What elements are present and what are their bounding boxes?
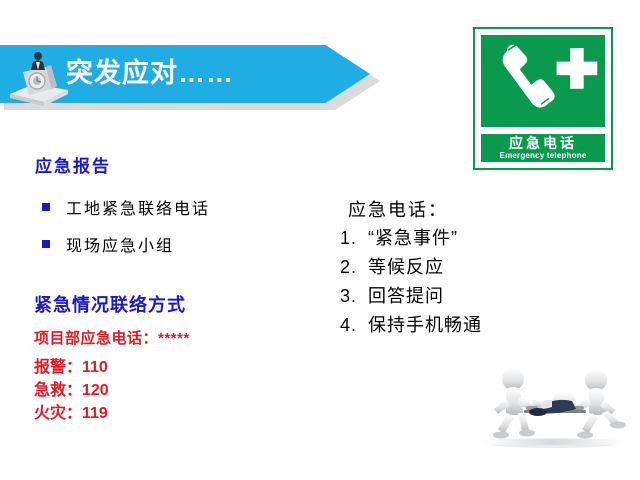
page-title: 突发应对…… — [66, 50, 234, 96]
list-item: 3.回答提问 — [340, 282, 482, 311]
list-item: 2.等候反应 — [340, 253, 482, 282]
project-department-phone: 项目部应急电话：***** — [34, 327, 190, 348]
list-item: 报警：110 — [34, 356, 109, 379]
stretcher-rescue-illustration — [468, 355, 638, 455]
sign-label-area: 应急电话 Emergency telephone — [479, 132, 607, 164]
rescuer-figure-right — [571, 369, 626, 439]
emergency-telephone-sign: 应急电话 Emergency telephone — [473, 27, 613, 170]
step-label: 保持手机畅通 — [368, 315, 482, 335]
emergency-report-heading: 应急报告 — [35, 152, 111, 177]
list-item-label: 工地紧急联络电话 — [66, 195, 210, 219]
slide-canvas: 突发应对…… 应急电话 Emergency telephone 应急报告 — [0, 0, 640, 480]
list-item: 现场应急小组 — [42, 232, 210, 256]
telephone-handset-icon — [481, 35, 605, 127]
list-item-label: 现场应急小组 — [66, 232, 174, 256]
list-item: 4.保持手机畅通 — [340, 311, 482, 340]
step-label: 回答提问 — [368, 286, 444, 306]
list-item: 急救：120 — [34, 379, 109, 402]
list-item: 火灾：119 — [34, 402, 109, 425]
step-number: 3. — [340, 282, 368, 311]
step-number: 4. — [340, 311, 368, 340]
contact-method-heading: 紧急情况联络方式 — [34, 291, 186, 317]
emergency-number-list: 报警：110 急救：120 火灾：119 — [34, 356, 109, 425]
medical-cross-icon — [557, 48, 598, 89]
emergency-call-steps: 1.“紧急事件” 2.等候反应 3.回答提问 4.保持手机畅通 — [340, 224, 482, 340]
step-number: 2. — [340, 253, 368, 282]
square-bullet-icon — [42, 240, 50, 248]
list-item: 1.“紧急事件” — [340, 224, 482, 253]
step-label: “紧急事件” — [368, 228, 458, 248]
emergency-call-heading: 应急电话： — [348, 196, 448, 222]
rescuer-figure-left — [493, 368, 538, 439]
step-label: 等候反应 — [368, 257, 444, 277]
square-bullet-icon — [42, 203, 50, 211]
step-number: 1. — [340, 224, 368, 253]
sign-pictogram-area — [479, 33, 607, 129]
sign-label-cn: 应急电话 — [481, 135, 605, 151]
emergency-report-list: 工地紧急联络电话 现场应急小组 — [42, 195, 210, 269]
sign-label-en: Emergency telephone — [481, 151, 605, 161]
podium-speaker-icon — [8, 50, 70, 106]
list-item: 工地紧急联络电话 — [42, 195, 210, 219]
